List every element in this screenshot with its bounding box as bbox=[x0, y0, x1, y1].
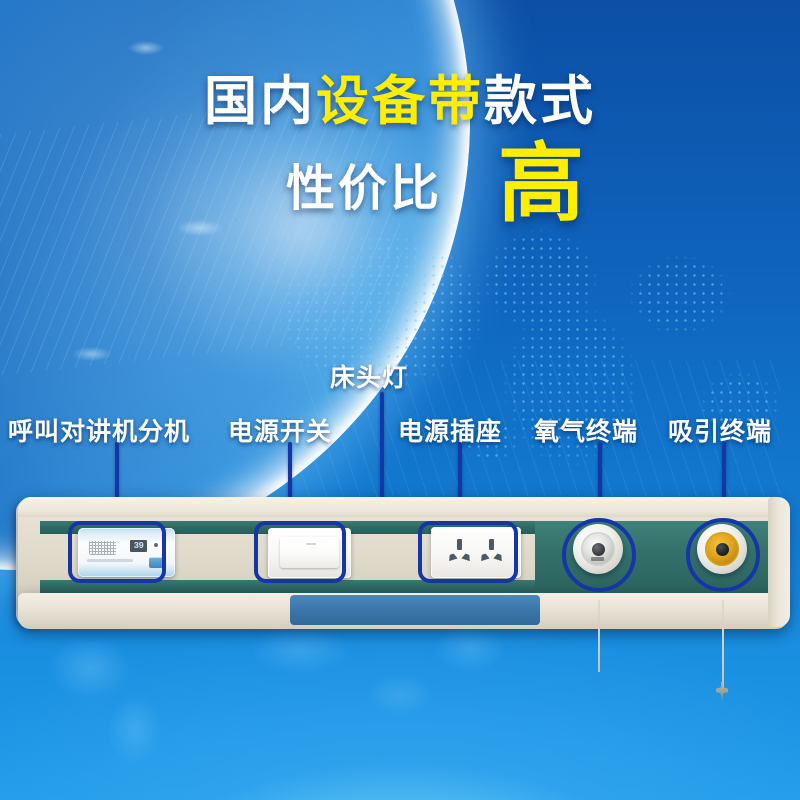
highlight-box-power-socket bbox=[418, 521, 518, 583]
headline-emphasis-text: 高 bbox=[498, 146, 584, 223]
highlight-box-power-switch bbox=[254, 521, 346, 583]
callout-label-bedlamp: 床头灯 bbox=[330, 358, 408, 394]
headline-block: 国内设备带款式 性价比 高 bbox=[0, 74, 800, 223]
panel-right-endcap bbox=[768, 497, 790, 627]
highlight-box-intercom bbox=[68, 521, 166, 583]
callout-label-power-socket: 电源插座 bbox=[398, 412, 502, 448]
headline-value-text: 性价比 bbox=[286, 149, 442, 220]
highlight-circle-suction bbox=[686, 518, 760, 592]
headline-part-1: 国内 bbox=[204, 72, 316, 131]
headline-line-1: 国内设备带款式 bbox=[0, 74, 800, 130]
suction-hanging-cord bbox=[722, 600, 724, 688]
panel-light-diffuser bbox=[290, 595, 540, 625]
callout-label-suction: 吸引终端 bbox=[668, 412, 772, 448]
product-banner: 国内设备带款式 性价比 高 呼叫对讲机分机 床头灯 电源开关 电源插座 氧气终端… bbox=[0, 0, 800, 800]
oxygen-hanging-cord bbox=[598, 600, 600, 672]
highlight-circle-oxygen bbox=[562, 518, 636, 592]
headline-line-2: 性价比 高 bbox=[0, 146, 800, 223]
headline-part-2: 设备带 bbox=[316, 72, 484, 131]
callout-label-power-switch: 电源开关 bbox=[228, 412, 332, 448]
panel-top-edge bbox=[18, 497, 788, 517]
headline-part-3: 款式 bbox=[484, 72, 596, 131]
callout-label-oxygen: 氧气终端 bbox=[534, 412, 638, 448]
callout-label-intercom: 呼叫对讲机分机 bbox=[8, 412, 190, 448]
